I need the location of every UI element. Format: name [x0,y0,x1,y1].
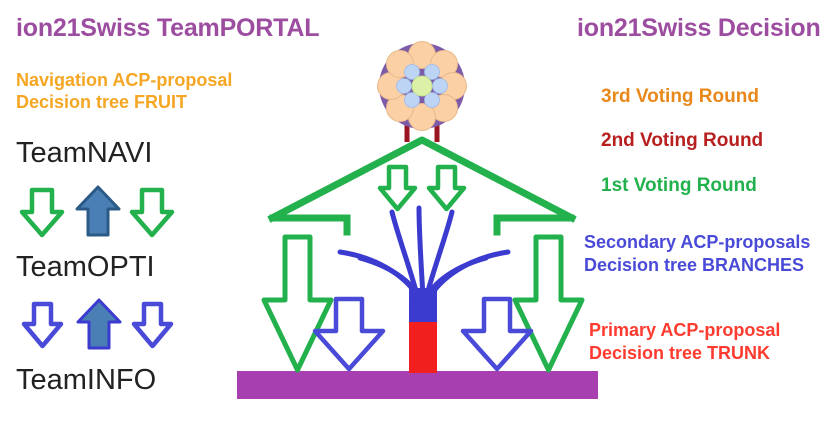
big-green-arrow-right [515,237,582,370]
down-arrow-blue [24,304,61,346]
fruit-core [412,76,432,96]
green-roof-chevron [272,140,572,218]
diagram-canvas: ion21Swiss TeamPORTAL Navigation ACP-pro… [0,0,828,424]
small-green-arrow-right [429,167,464,209]
big-green-arrow-left [264,237,331,370]
green-roof-right-arm [497,218,571,232]
blue-branches [340,208,508,303]
ground-bar [237,371,598,399]
green-roof-left-arm [273,218,347,232]
navi-opti-arrows [22,187,172,235]
down-arrow-green [132,190,172,235]
down-arrow-green [22,190,62,235]
down-arrow-blue [134,304,171,346]
up-arrow-blue [78,300,120,348]
fruit-cluster [378,42,467,131]
opti-info-arrows [24,300,171,348]
small-green-arrow-left [380,167,415,209]
trunk-bar [409,320,437,373]
up-arrow-blue [77,187,119,235]
